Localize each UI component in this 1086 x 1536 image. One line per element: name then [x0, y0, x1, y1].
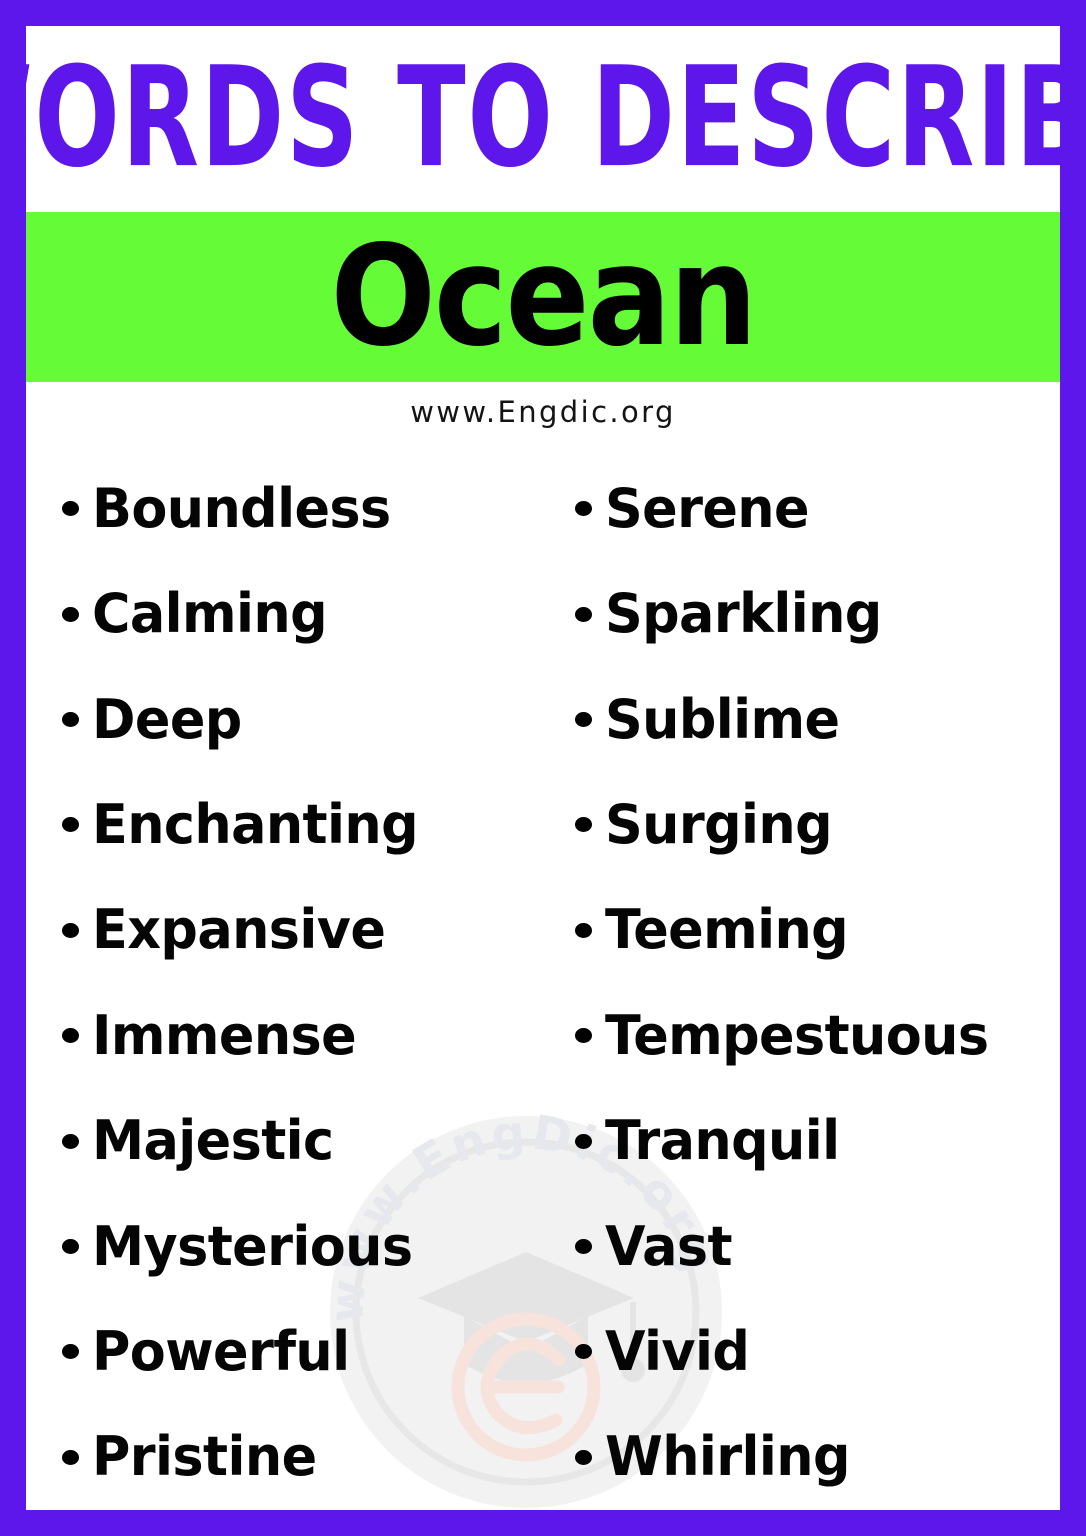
list-item[interactable]: Tranquil	[575, 1088, 1060, 1193]
list-item[interactable]: Mysterious	[62, 1194, 547, 1299]
list-item[interactable]: Vivid	[575, 1299, 1060, 1404]
word-column-right: Serene Sparkling Sublime Surging Teeming	[547, 442, 1060, 1510]
word-label: Vivid	[605, 1325, 749, 1379]
list-item[interactable]: Vast	[575, 1194, 1060, 1299]
website-credit: www.Engdic.org	[26, 382, 1060, 442]
list-item[interactable]: Sparkling	[575, 561, 1060, 666]
bullet-icon	[575, 712, 605, 727]
bullet-icon	[575, 1134, 605, 1149]
list-item[interactable]: Boundless	[62, 456, 547, 561]
word-label: Whirling	[605, 1430, 850, 1484]
word-label: Vast	[605, 1220, 732, 1274]
bullet-icon	[575, 1450, 605, 1465]
word-label: Enchanting	[92, 798, 418, 852]
list-item[interactable]: Serene	[575, 456, 1060, 561]
bullet-icon	[62, 1344, 92, 1359]
word-label: Calming	[92, 587, 327, 641]
poster-sheet: WORDS TO DESCRIBE Ocean www.Engdic.org w…	[26, 26, 1060, 1510]
list-item[interactable]: Powerful	[62, 1299, 547, 1404]
list-item[interactable]: Teeming	[575, 878, 1060, 983]
word-label: Surging	[605, 798, 832, 852]
word-label: Deep	[92, 693, 242, 747]
word-label: Pristine	[92, 1430, 317, 1484]
word-label: Sublime	[605, 693, 839, 747]
bullet-icon	[575, 923, 605, 938]
website-url-text: www.Engdic.org	[410, 395, 676, 429]
word-label: Mysterious	[92, 1220, 412, 1274]
page-title: WORDS TO DESCRIBE	[26, 50, 1060, 188]
word-label: Immense	[92, 1009, 356, 1063]
word-label: Boundless	[92, 482, 391, 536]
word-label: Tempestuous	[605, 1009, 988, 1063]
word-label: Powerful	[92, 1325, 350, 1379]
list-item[interactable]: Majestic	[62, 1088, 547, 1193]
list-item[interactable]: Calming	[62, 561, 547, 666]
list-item[interactable]: Tempestuous	[575, 983, 1060, 1088]
list-item[interactable]: Immense	[62, 983, 547, 1088]
bullet-icon	[62, 1450, 92, 1465]
list-item[interactable]: Deep	[62, 667, 547, 772]
list-item[interactable]: Pristine	[62, 1405, 547, 1510]
bullet-icon	[575, 501, 605, 516]
bullet-icon	[62, 923, 92, 938]
poster-frame: WORDS TO DESCRIBE Ocean www.Engdic.org w…	[0, 0, 1086, 1536]
bullet-icon	[62, 1134, 92, 1149]
word-label: Tranquil	[605, 1114, 839, 1168]
bullet-icon	[62, 501, 92, 516]
bullet-icon	[62, 1028, 92, 1043]
word-label: Majestic	[92, 1114, 334, 1168]
list-item[interactable]: Sublime	[575, 667, 1060, 772]
bullet-icon	[575, 1028, 605, 1043]
subject-title: Ocean	[331, 228, 756, 367]
word-label: Sparkling	[605, 587, 882, 641]
bullet-icon	[575, 607, 605, 622]
word-label: Expansive	[92, 903, 385, 957]
list-item[interactable]: Expansive	[62, 878, 547, 983]
bullet-icon	[62, 607, 92, 622]
bullet-icon	[575, 1344, 605, 1359]
list-item[interactable]: Whirling	[575, 1405, 1060, 1510]
bullet-icon	[62, 1239, 92, 1254]
subject-banner: Ocean	[26, 212, 1060, 382]
bullet-icon	[575, 817, 605, 832]
list-item[interactable]: Enchanting	[62, 772, 547, 877]
bullet-icon	[575, 1239, 605, 1254]
bullet-icon	[62, 817, 92, 832]
word-column-left: Boundless Calming Deep Enchanting Expans…	[26, 442, 547, 1510]
poster-heading-band: WORDS TO DESCRIBE	[26, 26, 1060, 212]
word-label: Serene	[605, 482, 809, 536]
word-label: Teeming	[605, 903, 848, 957]
bullet-icon	[62, 712, 92, 727]
list-item[interactable]: Surging	[575, 772, 1060, 877]
word-columns: Boundless Calming Deep Enchanting Expans…	[26, 442, 1060, 1510]
